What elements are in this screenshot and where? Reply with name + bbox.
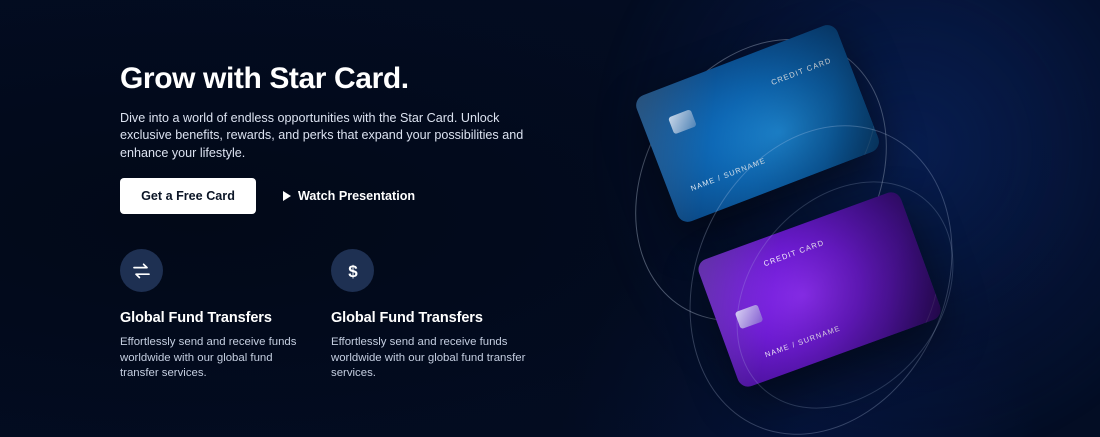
page-title: Grow with Star Card.	[120, 62, 409, 96]
cta-row: Get a Free Card Watch Presentation	[120, 178, 417, 214]
transfer-arrows-glyph	[132, 263, 151, 279]
credit-card-illustration: CREDIT CARD NAME / SURNAME CREDIT CARD N…	[600, 0, 1100, 437]
svg-text:$: $	[348, 262, 358, 281]
transfer-arrows-icon	[120, 249, 163, 292]
play-triangle-icon	[283, 191, 291, 201]
dollar-sign-icon: $	[331, 249, 374, 292]
watch-presentation-button[interactable]: Watch Presentation	[281, 183, 417, 209]
hero-section: Grow with Star Card. Dive into a world o…	[0, 0, 1100, 437]
feature-item: Global Fund Transfers Effortlessly send …	[120, 249, 331, 382]
feature-title: Global Fund Transfers	[120, 310, 331, 326]
dollar-sign-glyph: $	[344, 261, 362, 281]
hero-description: Dive into a world of endless opportuniti…	[120, 110, 536, 162]
hero-content: Grow with Star Card. Dive into a world o…	[120, 0, 590, 437]
feature-list: Global Fund Transfers Effortlessly send …	[120, 249, 546, 382]
feature-description: Effortlessly send and receive funds worl…	[331, 335, 527, 382]
feature-title: Global Fund Transfers	[331, 310, 546, 326]
get-free-card-button[interactable]: Get a Free Card	[120, 178, 256, 214]
feature-item: $ Global Fund Transfers Effortlessly sen…	[331, 249, 546, 382]
watch-presentation-label: Watch Presentation	[298, 189, 415, 203]
feature-description: Effortlessly send and receive funds worl…	[120, 335, 302, 382]
